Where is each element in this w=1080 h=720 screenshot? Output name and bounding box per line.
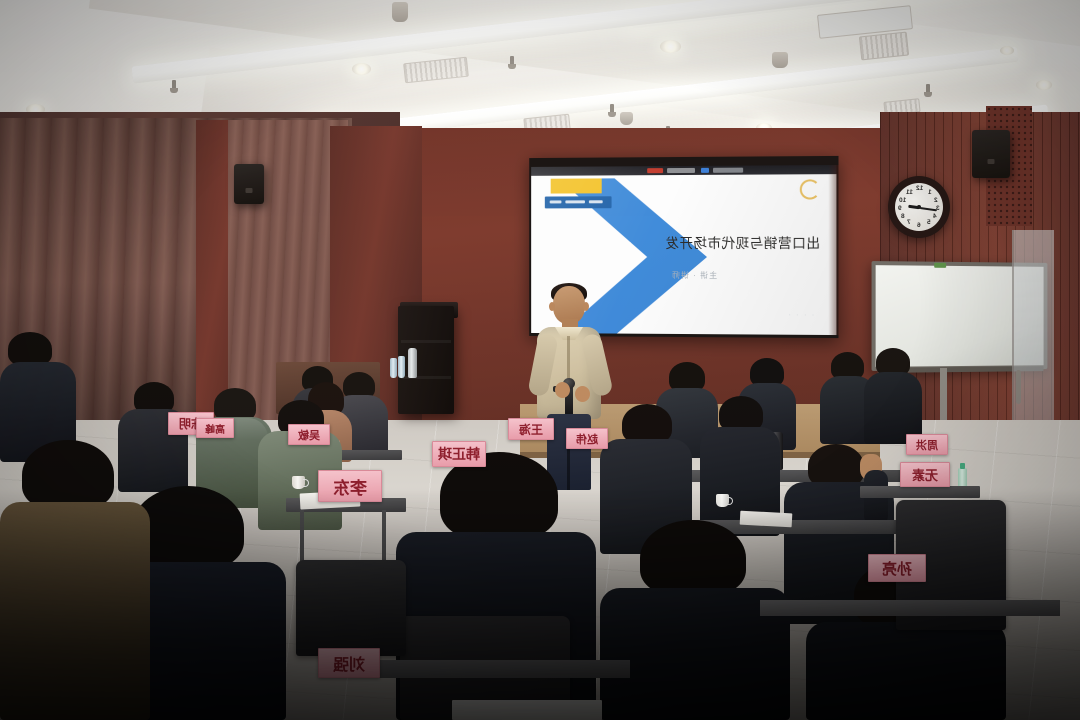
ceiling-spotlight: [620, 112, 633, 125]
name-placard: 刘强: [318, 648, 380, 678]
paper-cup: [292, 476, 305, 489]
toolbar-chip-red: [647, 168, 663, 173]
presenter-ear: [549, 302, 555, 311]
name-placard-text: 周洪: [916, 437, 938, 453]
wall-clock: 12 1 2 3 4 5 6 7 8 9 10 11: [888, 176, 950, 238]
name-placard-text: 无素: [912, 465, 938, 484]
attendee: [0, 440, 150, 720]
clock-minute-hand: [919, 207, 936, 211]
name-placard-text: 高峰: [205, 421, 225, 436]
sprinkler-head: [510, 56, 514, 66]
seminar-photo: 出口营销与现代市场开发 主讲 · 讲师 · · · · 12 1 2 3 4 5…: [0, 0, 1080, 720]
attendee-hair: [622, 404, 672, 444]
screen-edge-shadow: [828, 165, 838, 335]
attendee-torso: [806, 622, 1006, 720]
label-line: [589, 200, 603, 203]
clock-numeral: 8: [901, 213, 905, 220]
handout-paper: [452, 700, 602, 720]
name-placard-text: 王海: [519, 421, 543, 438]
toolbar-chip-gray-2: [713, 168, 743, 173]
presenter-ear: [583, 302, 589, 311]
clock-numeral: 2: [934, 197, 938, 204]
name-placard: 无素: [900, 462, 950, 487]
label-line: [550, 200, 562, 203]
water-bottle: [390, 358, 397, 378]
downlight: [1036, 80, 1052, 90]
name-placard: 王海: [508, 418, 554, 440]
name-placard: 孙亮: [868, 554, 926, 582]
name-placard: 吴敏: [288, 424, 330, 445]
coffee-mug: [716, 494, 729, 507]
desk: [860, 486, 980, 498]
sprinkler-head: [926, 84, 930, 94]
name-placard-text: 刘强: [333, 651, 365, 675]
desk-leg: [300, 510, 304, 562]
name-placard-text: 孙亮: [882, 558, 912, 579]
name-placard-text: 吴敏: [298, 427, 320, 443]
toolbar-chip-blue: [701, 168, 709, 173]
desk-surface: [760, 600, 1060, 616]
name-placard: 李东: [318, 470, 382, 502]
clock-numeral: 7: [907, 219, 911, 226]
clock-numeral: 9: [898, 205, 902, 212]
water-bottle: [398, 356, 405, 378]
name-placard-text: 赵伟: [576, 431, 598, 447]
wall-speaker-left: [234, 164, 264, 204]
clock-numeral: 11: [906, 189, 913, 196]
downlight: [660, 40, 681, 53]
downlight: [1000, 46, 1014, 55]
attendee-hair: [640, 520, 746, 596]
hvac-vent: [859, 32, 909, 61]
clock-numeral: 10: [899, 197, 906, 204]
name-placard-text: 韩正琪: [438, 444, 480, 464]
name-placard-text: 李东: [333, 474, 367, 499]
presenter-right-hand: [575, 386, 590, 402]
av-equipment-cart: [398, 306, 454, 414]
attendee-arm: [864, 470, 888, 526]
downlight: [352, 63, 371, 75]
whiteboard-magnet: [934, 263, 946, 268]
powerpoint-toolbar: [531, 165, 836, 176]
clock-numeral: 6: [917, 222, 921, 229]
ceiling-spotlight: [392, 2, 408, 22]
slide-circle-badge: [800, 179, 820, 199]
clock-center-pin: [917, 205, 921, 209]
clock-numeral: 4: [933, 213, 937, 220]
clock-numeral: 5: [927, 219, 931, 226]
sprinkler-head: [610, 104, 614, 114]
ceiling-spotlight: [772, 52, 788, 68]
name-placard: 韩正琪: [432, 441, 486, 467]
attendee: [600, 520, 790, 720]
av-cart-shelf: [401, 340, 451, 343]
slide-subtitle-text: 主讲 · 讲师: [671, 270, 717, 281]
name-placard: 高峰: [196, 418, 234, 438]
clock-numeral: 12: [916, 185, 923, 192]
clock-numeral: 1: [928, 189, 932, 196]
name-placard: 周洪: [906, 434, 948, 455]
slide-title-text: 出口营销与现代市场开发: [669, 232, 820, 252]
toolbar-chip-gray: [667, 168, 695, 173]
slide-footer-text: · · · ·: [787, 313, 814, 319]
attendee: [864, 348, 922, 444]
office-chair[interactable]: [296, 560, 406, 656]
attendee-hair: [8, 332, 52, 366]
door-handle[interactable]: [1016, 370, 1021, 404]
clock-face: 12 1 2 3 4 5 6 7 8 9 10 11: [895, 183, 943, 231]
slide-yellow-block: [551, 178, 602, 193]
name-placard: 赵伟: [566, 428, 608, 449]
attendee-torso: [0, 502, 150, 720]
thermos-flask: [408, 348, 417, 378]
label-line: [565, 200, 585, 203]
attendee-hair: [22, 440, 114, 510]
sprinkler-head: [172, 80, 176, 90]
slide-blue-label: [545, 196, 612, 208]
wall-speaker-right: [972, 130, 1010, 178]
presenter-left-hand: [555, 382, 570, 398]
